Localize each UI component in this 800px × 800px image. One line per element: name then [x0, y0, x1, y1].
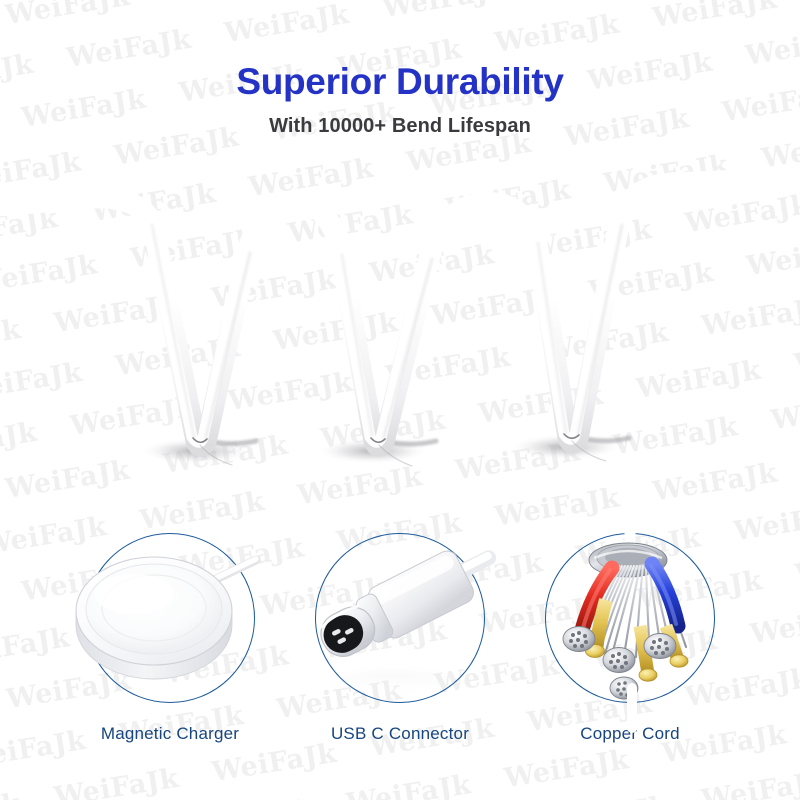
cable-body	[0, 173, 800, 466]
copper-cord-icon	[520, 508, 740, 728]
watermark-text: WeiFaJk	[159, 0, 291, 17]
cord-strand-endfaces	[563, 627, 676, 700]
watermark-row: WeiFaJkWeiFaJkWeiFaJkWeiFaJkWeiFaJkWeiFa…	[0, 0, 800, 27]
watermark-text: WeiFaJk	[0, 778, 25, 800]
watermark-text: WeiFaJk	[2, 0, 134, 42]
heading-block: Superior Durability With 10000+ Bend Lif…	[0, 60, 800, 139]
watermark-text: WeiFaJk	[536, 0, 668, 10]
page-subtitle: With 10000+ Bend Lifespan	[0, 113, 800, 139]
feature-strip: Magnetic Charger	[0, 533, 800, 778]
feature-circle-usb-c-connector	[315, 533, 485, 703]
product-feature-banner: WeiFaJkWeiFaJkWeiFaJkWeiFaJkWeiFaJkWeiFa…	[0, 0, 800, 800]
feature-magnetic-charger[interactable]: Magnetic Charger	[70, 533, 270, 778]
page-title: Superior Durability	[0, 60, 800, 104]
watermark-text: WeiFaJk	[185, 784, 317, 800]
watermark-text: WeiFaJk	[221, 0, 353, 60]
watermark-text: WeiFaJk	[0, 0, 53, 2]
usb-c-connector-icon	[290, 508, 510, 728]
watermark-text: WeiFaJk	[379, 0, 511, 35]
watermark-text: WeiFaJk	[649, 0, 781, 45]
watermark-text: WeiFaJk	[779, 795, 800, 800]
watermark-text: WeiFaJk	[540, 781, 672, 800]
magnetic-charger-icon	[60, 508, 280, 728]
hero-cable-illustration	[0, 155, 800, 495]
feature-circle-magnetic-charger	[85, 533, 255, 703]
feature-usb-c-connector[interactable]: USB C Connector	[300, 533, 500, 778]
feature-copper-cord[interactable]: Copper Cord	[530, 533, 730, 778]
feature-circle-copper-cord	[545, 533, 715, 703]
